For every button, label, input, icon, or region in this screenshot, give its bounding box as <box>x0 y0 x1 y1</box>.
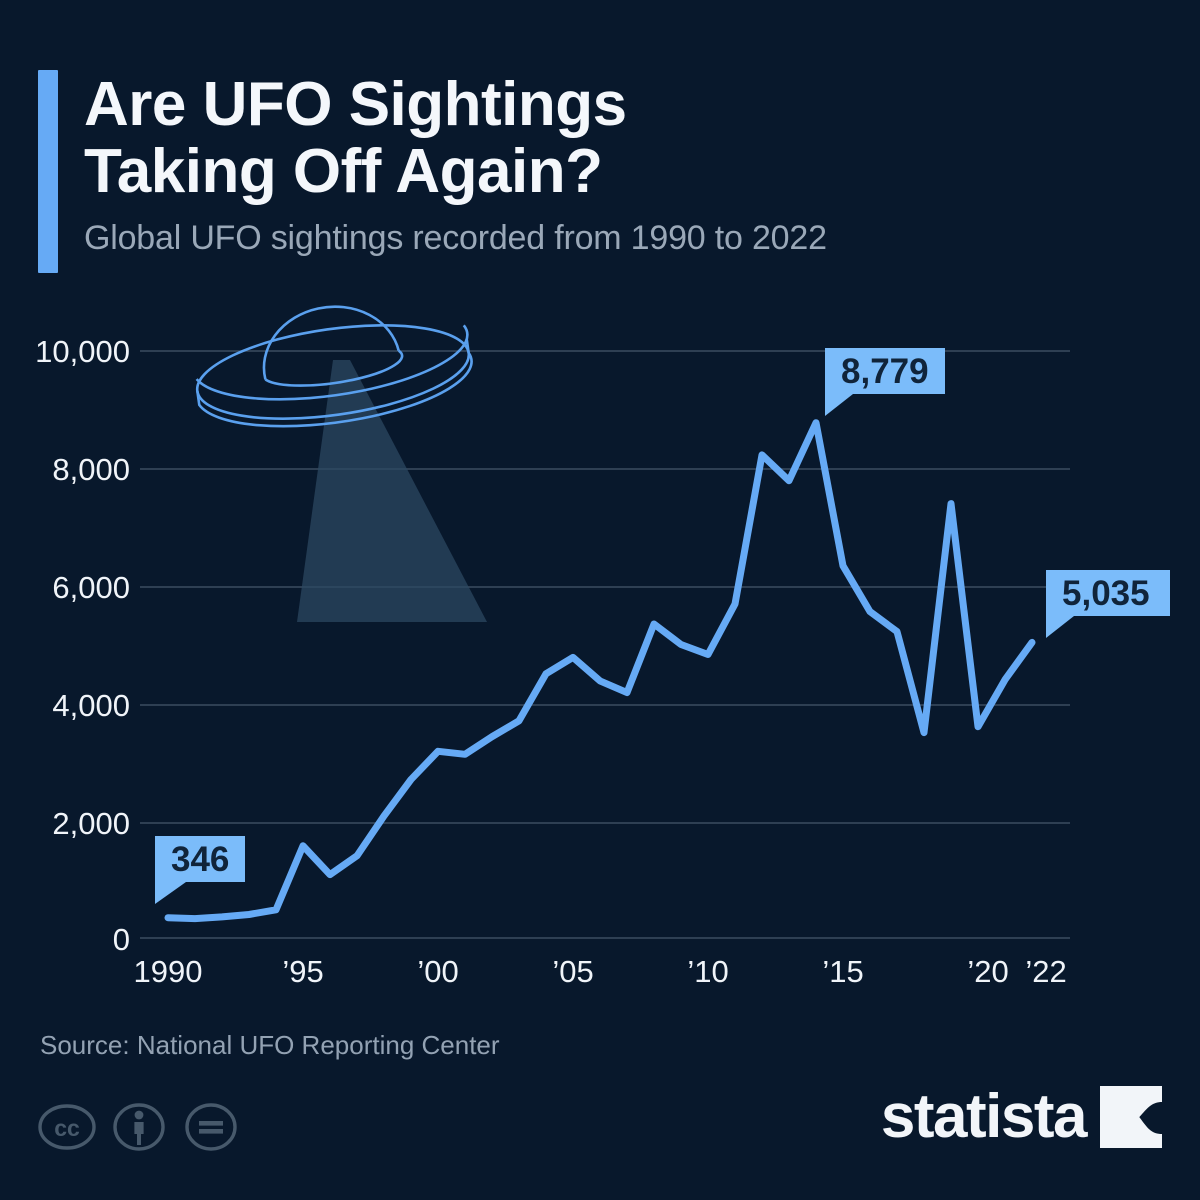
y-axis-labels: 10,000 8,000 6,000 4,000 2,000 0 <box>35 334 130 957</box>
source-note: Source: National UFO Reporting Center <box>40 1030 500 1061</box>
page-title: Are UFO Sightings Taking Off Again? <box>84 70 827 206</box>
x-tick-label: ’95 <box>282 954 323 989</box>
callout-tail <box>155 882 186 904</box>
line-chart: 10,000 8,000 6,000 4,000 2,000 0 <box>0 300 1200 1000</box>
page-subtitle: Global UFO sightings recorded from 1990 … <box>84 219 827 258</box>
cc-icon[interactable]: cc <box>38 1098 96 1156</box>
y-tick-label: 6,000 <box>52 570 130 605</box>
svg-text:cc: cc <box>54 1115 80 1141</box>
callout-label: 346 <box>171 840 229 879</box>
x-tick-label: ’00 <box>417 954 458 989</box>
x-tick-label: ’22 <box>1025 954 1066 989</box>
x-tick-label: ’15 <box>822 954 863 989</box>
gridlines <box>140 351 1070 938</box>
chart-area: 10,000 8,000 6,000 4,000 2,000 0 <box>0 300 1200 1000</box>
y-tick-label: 8,000 <box>52 452 130 487</box>
accent-bar <box>38 70 58 273</box>
y-tick-label: 2,000 <box>52 806 130 841</box>
data-line <box>168 423 1032 919</box>
statista-mark-icon <box>1100 1086 1162 1148</box>
x-axis-labels: 1990 ’95 ’00 ’05 ’10 ’15 ’20 ’22 <box>134 954 1067 989</box>
ufo-illustration <box>191 300 487 622</box>
by-person-icon[interactable] <box>110 1098 168 1156</box>
x-tick-label: 1990 <box>134 954 203 989</box>
callout-tail <box>1046 616 1074 638</box>
y-tick-label: 10,000 <box>35 334 130 369</box>
callout-label: 5,035 <box>1062 574 1150 613</box>
x-tick-label: ’20 <box>967 954 1008 989</box>
header-text: Are UFO Sightings Taking Off Again? Glob… <box>84 70 827 273</box>
x-tick-label: ’10 <box>687 954 728 989</box>
header: Are UFO Sightings Taking Off Again? Glob… <box>38 70 1158 273</box>
callout-8779: 8,779 <box>825 348 945 416</box>
y-tick-label: 4,000 <box>52 688 130 723</box>
x-tick-label: ’05 <box>552 954 593 989</box>
nd-equals-icon[interactable] <box>182 1098 240 1156</box>
license-badges: cc <box>38 1098 240 1156</box>
infographic-canvas: Are UFO Sightings Taking Off Again? Glob… <box>0 0 1200 1200</box>
callout-346: 346 <box>155 836 245 904</box>
statista-logo[interactable]: statista <box>881 1086 1162 1148</box>
callout-5035: 5,035 <box>1046 570 1170 638</box>
y-tick-label: 0 <box>113 922 130 957</box>
callout-tail <box>825 394 853 416</box>
statista-wordmark: statista <box>881 1086 1086 1148</box>
light-beam-icon <box>297 360 487 622</box>
callout-label: 8,779 <box>841 352 929 391</box>
